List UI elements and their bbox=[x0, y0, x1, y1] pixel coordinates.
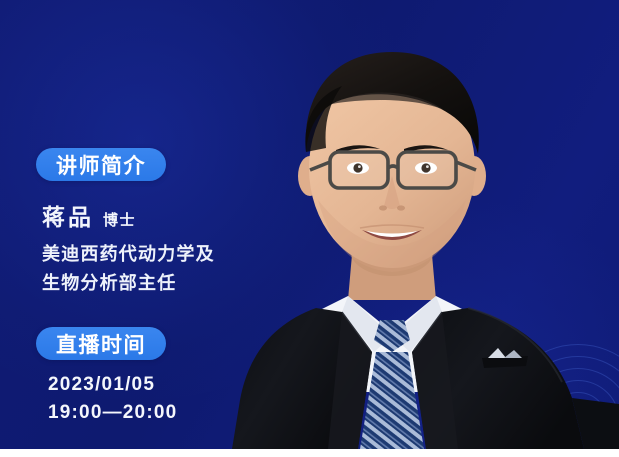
speaker-degree: 博士 bbox=[103, 209, 136, 230]
speaker-name-line: 蒋品 博士 bbox=[42, 198, 136, 232]
speaker-name: 蒋品 bbox=[42, 198, 94, 232]
broadcast-date: 2023/01/05 bbox=[48, 374, 155, 396]
broadcast-time-range: 19:00—20:00 bbox=[48, 402, 177, 424]
speaker-section-badge: 讲师简介 bbox=[36, 148, 166, 181]
speaker-role-line-2: 生物分析部主任 bbox=[42, 269, 176, 295]
speaker-role-line-1: 美迪西药代动力学及 bbox=[42, 240, 215, 266]
bottom-white-strip bbox=[0, 449, 619, 457]
poster-text-column: 讲师简介 蒋品 博士 美迪西药代动力学及 生物分析部主任 直播时间 2023/0… bbox=[0, 0, 300, 457]
broadcast-time-badge: 直播时间 bbox=[36, 327, 166, 360]
webinar-speaker-poster: 讲师简介 蒋品 博士 美迪西药代动力学及 生物分析部主任 直播时间 2023/0… bbox=[0, 0, 619, 457]
